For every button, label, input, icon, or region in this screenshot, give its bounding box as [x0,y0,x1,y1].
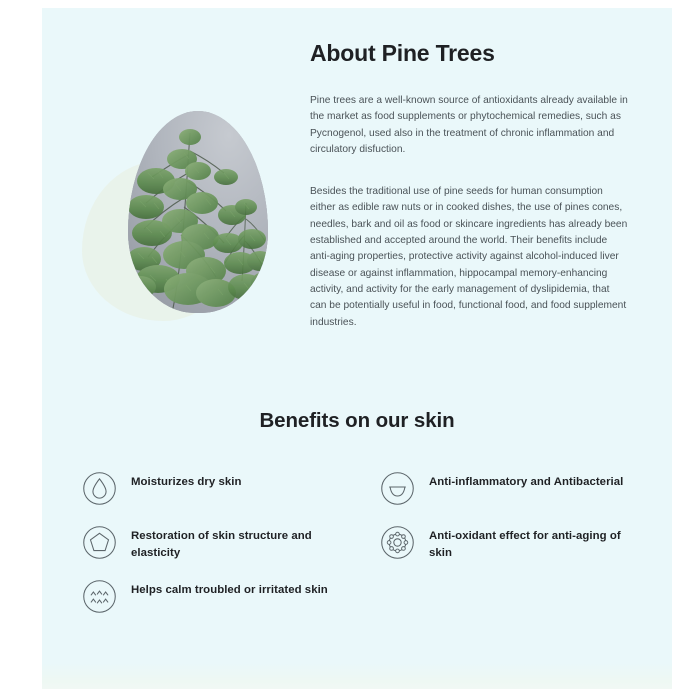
benefit-label: Moisturizes dry skin [131,470,242,491]
chevron-grid-icon [82,579,117,614]
article-paragraph-2: Besides the traditional use of pine seed… [310,184,628,331]
content-panel: About Pine Trees Pine trees are a well-k… [42,8,672,689]
water-droplet-icon [82,471,117,506]
benefit-label: Anti-oxidant effect for anti-aging of sk… [429,524,638,562]
benefit-label: Helps calm troubled or irritated skin [131,578,328,599]
benefits-grid: Moisturizes dry skin Restoration of skin… [82,470,638,632]
pentagon-icon [82,525,117,560]
bowl-icon [380,471,415,506]
benefit-item: Moisturizes dry skin [82,470,340,524]
benefit-label: Anti-inflammatory and Antibacterial [429,470,623,491]
benefit-item: Anti-inflammatory and Antibacterial [380,470,638,524]
bottom-fade [42,663,672,689]
pine-image-block [62,103,307,333]
benefits-heading: Benefits on our skin [42,408,672,434]
benefit-label: Restoration of skin structure and elasti… [131,524,340,562]
benefits-section: Benefits on our skin Moisturizes dry ski… [42,408,672,434]
about-section: About Pine Trees Pine trees are a well-k… [42,8,672,378]
benefit-item: Helps calm troubled or irritated skin [82,578,340,632]
benefits-column-left: Moisturizes dry skin Restoration of skin… [82,470,340,632]
molecule-ring-icon [380,525,415,560]
article-paragraph-1: Pine trees are a well-known source of an… [310,93,628,158]
article-text: About Pine Trees Pine trees are a well-k… [310,40,628,331]
pine-foliage-illustration [128,111,268,313]
benefit-item: Restoration of skin structure and elasti… [82,524,340,578]
benefits-column-right: Anti-inflammatory and Antibacterial [380,470,638,632]
pine-tree-photo [128,111,268,313]
page-title: About Pine Trees [310,40,628,67]
benefit-item: Anti-oxidant effect for anti-aging of sk… [380,524,638,578]
